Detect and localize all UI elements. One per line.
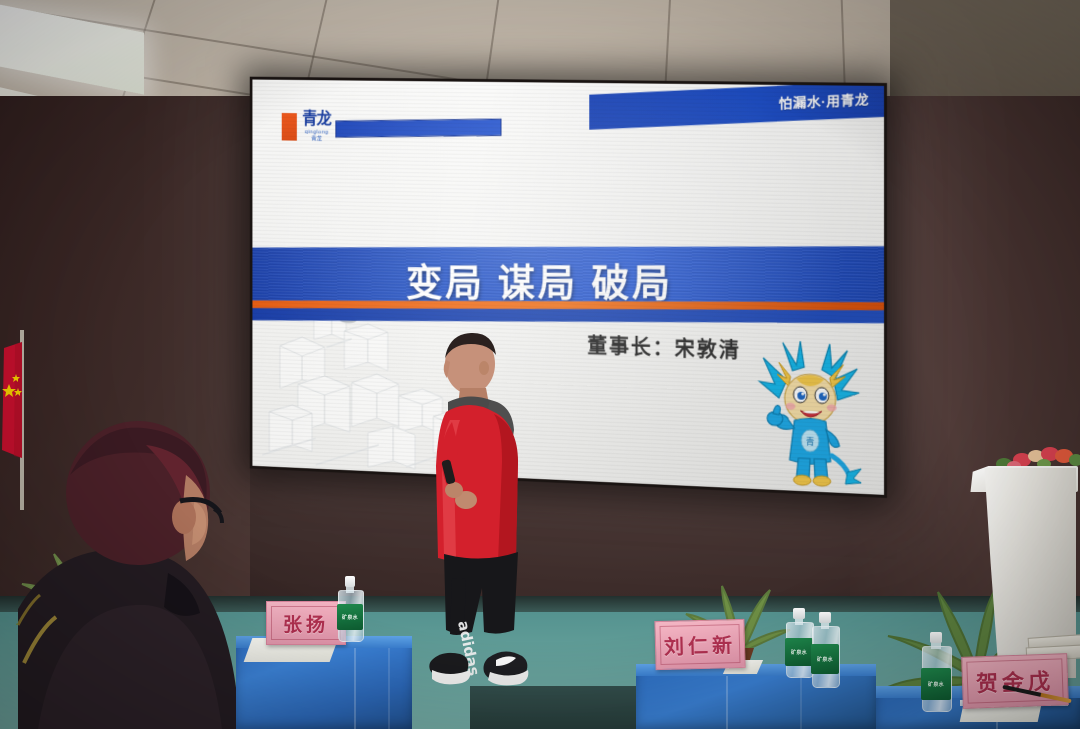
name-placard: 刘仁新 [654,619,745,670]
water-bottle: 矿泉水 [786,608,812,678]
slide-top-banner: 怕漏水·用青龙 [589,80,887,129]
presenter-in-red-jacket: adidas [412,330,552,695]
conference-room-photo: 怕漏水·用青龙 青龙 qinglong 青龙 变局 谋局 破局 董事长：宋敦清 [0,0,1080,729]
logo-mark-text: 青龙 [302,111,331,128]
bottle-label-text: 矿泉水 [817,656,833,663]
placard-name-text: 张扬 [283,610,329,637]
slide-subtitle: 董事长：宋敦清 [587,329,741,364]
svg-text:青: 青 [806,435,815,448]
water-bottle: 矿泉水 [812,612,838,688]
water-bottle: 矿泉水 [338,576,362,642]
bottle-label-text: 矿泉水 [791,649,807,656]
bottle-label-text: 矿泉水 [342,614,358,621]
logo-latin-text: qinglong [305,129,329,135]
projection-screen[interactable]: 怕漏水·用青龙 青龙 qinglong 青龙 变局 谋局 破局 董事长：宋敦清 [250,77,887,498]
placard-name-text: 刘仁新 [664,629,737,660]
slide-header-bar [335,119,501,138]
bottle-label-text: 矿泉水 [928,681,944,688]
logo-subtitle-text: 青龙 [311,136,322,142]
company-logo: 青龙 qinglong 青龙 [282,111,331,142]
slide-slogan: 怕漏水·用青龙 [779,90,869,114]
presentation-slide: 怕漏水·用青龙 青龙 qinglong 青龙 变局 谋局 破局 董事长：宋敦清 [250,77,887,498]
water-bottle: 矿泉水 [922,632,950,712]
name-placard: 贺金戊 [961,653,1069,709]
logo-orange-square [282,112,297,140]
blue-dragon-mascot: 青 [757,336,863,489]
name-placard: 张扬 [266,601,346,645]
